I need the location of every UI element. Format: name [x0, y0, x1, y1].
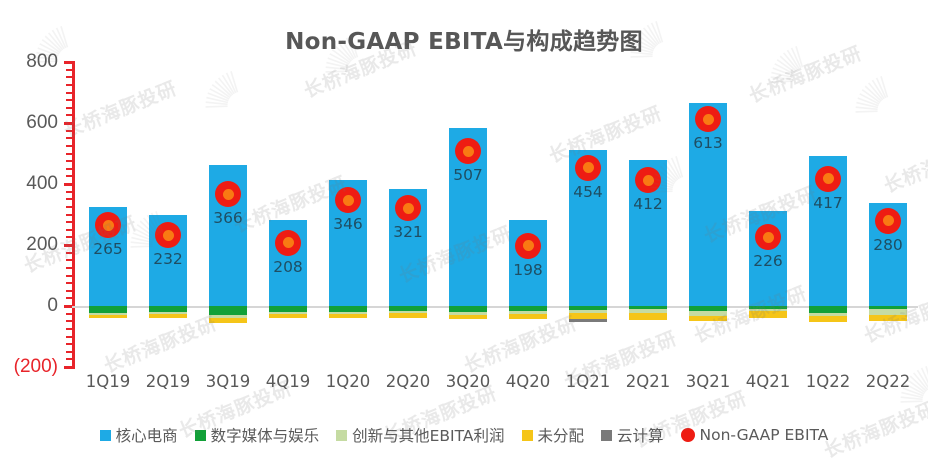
overlay-marker: [335, 187, 361, 213]
overlay-marker: [755, 224, 781, 250]
y-tick-minor: [66, 191, 73, 193]
chart-container: Non-GAAP EBITA与构成趋势图 8006004002000(200) …: [0, 0, 928, 472]
y-tick-minor: [66, 297, 73, 299]
bar-segment: [149, 314, 187, 318]
legend-swatch-icon: [681, 428, 695, 442]
bar-stack-negative: [689, 306, 727, 367]
overlay-marker: [875, 208, 901, 234]
y-tick-minor: [66, 358, 73, 360]
bar-segment: [809, 316, 847, 322]
value-label: 232: [138, 250, 198, 268]
y-tick-minor: [66, 229, 73, 231]
bar-segment: [269, 314, 307, 318]
bar-group[interactable]: 232: [138, 62, 198, 367]
bar-group[interactable]: 226: [738, 62, 798, 367]
y-tick-minor: [66, 168, 73, 170]
bar-group[interactable]: 366: [198, 62, 258, 367]
y-tick-minor: [66, 221, 73, 223]
legend-item[interactable]: 未分配: [522, 424, 585, 446]
overlay-marker: [395, 195, 421, 221]
legend-item[interactable]: Non-GAAP EBITA: [681, 426, 829, 444]
overlay-marker: [515, 233, 541, 259]
bar-stack-negative: [629, 306, 667, 367]
y-tick-minor: [66, 236, 73, 238]
legend-label: 云计算: [617, 424, 664, 446]
bar-segment: [809, 306, 847, 313]
legend-swatch-icon: [601, 430, 612, 441]
legend-swatch-icon: [336, 430, 347, 441]
value-label: 208: [258, 258, 318, 276]
bar-segment: [329, 314, 367, 318]
legend-item[interactable]: 核心电商: [100, 424, 178, 446]
y-tick-major: [64, 366, 75, 369]
y-tick-minor: [66, 145, 73, 147]
y-axis-label: (200): [0, 356, 58, 378]
value-label: 198: [498, 261, 558, 279]
x-axis-label: 1Q22: [798, 372, 858, 391]
y-tick-minor: [66, 153, 73, 155]
legend-label: 核心电商: [116, 424, 178, 446]
y-tick-minor: [66, 114, 73, 116]
y-tick-minor: [66, 290, 73, 292]
bar-group[interactable]: 412: [618, 62, 678, 367]
y-tick-major: [64, 183, 75, 186]
legend-swatch-icon: [522, 430, 533, 441]
legend-item[interactable]: 创新与其他EBITA利润: [336, 424, 504, 446]
y-tick-minor: [66, 282, 73, 284]
y-axis-label: 800: [0, 51, 58, 73]
x-axis-label: 2Q20: [378, 372, 438, 391]
legend-item[interactable]: 数字媒体与娱乐: [195, 424, 320, 446]
x-axis-label: 3Q19: [198, 372, 258, 391]
bar-stack-negative: [509, 306, 547, 367]
bar-group[interactable]: 417: [798, 62, 858, 367]
value-label: 454: [558, 183, 618, 201]
bar-group[interactable]: 208: [258, 62, 318, 367]
x-axis-label: 3Q20: [438, 372, 498, 391]
bar-group[interactable]: 265: [78, 62, 138, 367]
y-tick-minor: [66, 275, 73, 277]
x-axis-label: 4Q19: [258, 372, 318, 391]
value-label: 265: [78, 240, 138, 258]
y-tick-minor: [66, 69, 73, 71]
bar-segment: [209, 318, 247, 323]
y-tick-minor: [66, 198, 73, 200]
bar-segment: [569, 319, 607, 321]
y-axis-label: 200: [0, 234, 58, 256]
x-axis-label: 2Q21: [618, 372, 678, 391]
bar-series-group: 2652323662083463215071984544126132264172…: [78, 62, 918, 367]
bar-stack-negative: [749, 306, 787, 367]
bar-stack-negative: [809, 306, 847, 367]
y-tick-minor: [66, 320, 73, 322]
bar-segment: [209, 306, 247, 315]
bar-segment: [389, 313, 427, 317]
legend-label: 创新与其他EBITA利润: [352, 424, 504, 446]
bar-stack-negative: [149, 306, 187, 367]
y-tick-minor: [66, 160, 73, 162]
bar-stack-negative: [449, 306, 487, 367]
legend-swatch-icon: [195, 430, 206, 441]
overlay-marker: [455, 138, 481, 164]
value-label: 417: [798, 194, 858, 212]
overlay-marker: [575, 155, 601, 181]
bar-stack-negative: [569, 306, 607, 367]
bar-stack-negative: [389, 306, 427, 367]
y-tick-minor: [66, 252, 73, 254]
bar-stack-negative: [209, 306, 247, 367]
bar-group[interactable]: 321: [378, 62, 438, 367]
x-axis-label: 2Q22: [858, 372, 918, 391]
x-axis-label: 1Q19: [78, 372, 138, 391]
chart-legend: 核心电商数字媒体与娱乐创新与其他EBITA利润未分配云计算Non-GAAP EB…: [0, 424, 928, 446]
y-tick-minor: [66, 130, 73, 132]
bar-segment: [509, 314, 547, 319]
y-tick-minor: [66, 175, 73, 177]
y-tick-minor: [66, 313, 73, 315]
y-tick-minor: [66, 107, 73, 109]
y-tick-minor: [66, 351, 73, 353]
y-tick-minor: [66, 214, 73, 216]
bar-stack-negative: [269, 306, 307, 367]
value-label: 226: [738, 252, 798, 270]
y-tick-minor: [66, 267, 73, 269]
bar-stack-negative: [329, 306, 367, 367]
y-tick-minor: [66, 259, 73, 261]
y-tick-minor: [66, 206, 73, 208]
x-axis-label: 4Q21: [738, 372, 798, 391]
legend-swatch-icon: [100, 430, 111, 441]
y-tick-major: [64, 61, 75, 64]
y-tick-minor: [66, 343, 73, 345]
value-label: 346: [318, 215, 378, 233]
y-tick-minor: [66, 328, 73, 330]
overlay-marker: [215, 181, 241, 207]
x-axis-label: 1Q20: [318, 372, 378, 391]
bar-segment: [89, 315, 127, 319]
overlay-marker: [155, 222, 181, 248]
bar-segment: [689, 316, 727, 321]
y-axis-label: 400: [0, 173, 58, 195]
bar-group[interactable]: 454: [558, 62, 618, 367]
overlay-marker: [635, 167, 661, 193]
overlay-marker: [815, 166, 841, 192]
chart-title: Non-GAAP EBITA与构成趋势图: [0, 22, 928, 56]
value-label: 507: [438, 166, 498, 184]
y-axis-label: 0: [0, 295, 58, 317]
overlay-marker: [95, 212, 121, 238]
y-tick-minor: [66, 84, 73, 86]
value-label: 613: [678, 134, 738, 152]
y-tick-minor: [66, 137, 73, 139]
y-tick-major: [64, 122, 75, 125]
y-tick-major: [64, 244, 75, 247]
legend-label: 数字媒体与娱乐: [211, 424, 320, 446]
x-axis-label: 4Q20: [498, 372, 558, 391]
bar-group[interactable]: 346: [318, 62, 378, 367]
overlay-marker: [695, 106, 721, 132]
y-tick-minor: [66, 336, 73, 338]
bar-segment: [449, 315, 487, 320]
bar-segment: [749, 311, 787, 318]
x-axis-labels: 1Q192Q193Q194Q191Q202Q203Q204Q201Q212Q21…: [78, 372, 918, 391]
x-axis-label: 2Q19: [138, 372, 198, 391]
legend-item[interactable]: 云计算: [601, 424, 664, 446]
bar-group[interactable]: 507: [438, 62, 498, 367]
value-label: 412: [618, 195, 678, 213]
bar-group[interactable]: 613: [678, 62, 738, 367]
y-tick-minor: [66, 76, 73, 78]
value-label: 366: [198, 209, 258, 227]
legend-label: Non-GAAP EBITA: [700, 426, 829, 444]
y-tick-minor: [66, 92, 73, 94]
bar-segment: [869, 309, 907, 316]
overlay-marker: [275, 230, 301, 256]
x-axis-label: 1Q21: [558, 372, 618, 391]
bar-group[interactable]: 280: [858, 62, 918, 367]
bar-segment: [869, 315, 907, 320]
x-axis-label: 3Q21: [678, 372, 738, 391]
plot-area: 8006004002000(200) 265232366208346321507…: [78, 62, 918, 367]
legend-label: 未分配: [538, 424, 585, 446]
bar-segment: [629, 313, 667, 320]
value-label: 280: [858, 236, 918, 254]
bar-group[interactable]: 198: [498, 62, 558, 367]
bar-segment: [89, 306, 127, 313]
value-label: 321: [378, 223, 438, 241]
bar-stack-negative: [89, 306, 127, 367]
bar-stack-negative: [869, 306, 907, 367]
y-tick-minor: [66, 99, 73, 101]
y-axis-label: 600: [0, 112, 58, 134]
